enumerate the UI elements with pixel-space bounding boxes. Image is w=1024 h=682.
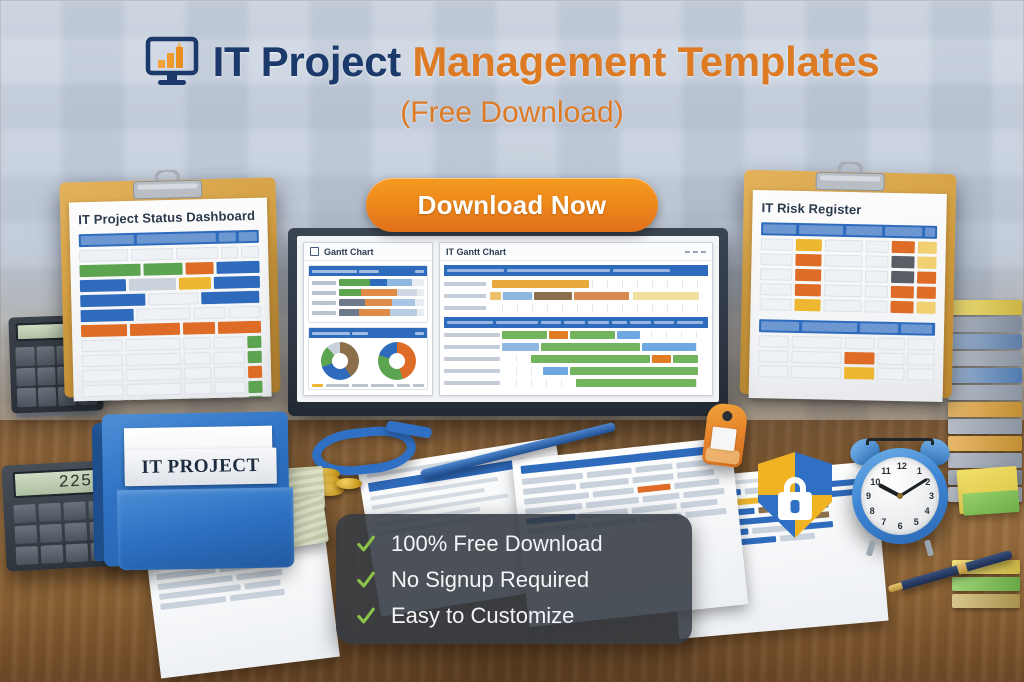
keyfob-base bbox=[705, 447, 740, 465]
gantt-row bbox=[444, 366, 708, 376]
table-header bbox=[761, 222, 937, 239]
page-title: IT Project Management Templates bbox=[213, 38, 880, 86]
clock-face: 12 3 6 9 11 1 2 4 5 7 8 10 bbox=[861, 457, 939, 535]
gantt-row bbox=[444, 378, 708, 388]
clipboard-clip-icon bbox=[807, 161, 894, 197]
headline-row: IT Project Management Templates bbox=[0, 36, 1024, 88]
clock-number-8: 8 bbox=[870, 506, 875, 516]
clock-number-11: 11 bbox=[881, 466, 891, 476]
desktop-monitor: Gantt Chart bbox=[288, 228, 728, 416]
check-icon bbox=[356, 570, 376, 590]
promo-banner: 29 IT Project Status Dashboard bbox=[0, 0, 1024, 682]
blue-alarm-clock: 12 3 6 9 11 1 2 4 5 7 8 10 bbox=[852, 448, 948, 544]
table-row bbox=[759, 335, 935, 351]
gantt-row bbox=[444, 354, 708, 364]
feature-label: 100% Free Download bbox=[391, 531, 603, 557]
timeline-row bbox=[444, 291, 708, 301]
check-icon bbox=[356, 606, 376, 626]
window-it-gantt-chart[interactable]: IT Gantt Chart bbox=[439, 242, 713, 396]
table-row bbox=[761, 238, 937, 254]
clipboard-risk-register: IT Risk Register bbox=[740, 170, 957, 398]
stacked-bar-row bbox=[312, 309, 424, 316]
feature-item: Easy to Customize bbox=[356, 603, 674, 629]
window-controls-icon[interactable] bbox=[685, 251, 706, 253]
table-row bbox=[760, 283, 936, 299]
clipboard-title: IT Risk Register bbox=[761, 200, 937, 219]
download-now-button[interactable]: Download Now bbox=[366, 178, 658, 232]
table-row bbox=[80, 291, 260, 307]
table-row bbox=[758, 350, 934, 366]
table-row bbox=[81, 336, 261, 352]
clock-number-7: 7 bbox=[881, 517, 886, 527]
card-header bbox=[309, 266, 427, 276]
timeline-row bbox=[444, 279, 708, 289]
window-title: Gantt Chart bbox=[324, 247, 374, 257]
clock-center-pin bbox=[897, 493, 903, 499]
lock-body bbox=[778, 492, 812, 520]
orange-key-fob bbox=[701, 402, 748, 468]
stacked-bar-row bbox=[312, 289, 424, 296]
keyring-hole bbox=[722, 411, 733, 422]
card-stacked-bars bbox=[308, 265, 428, 323]
card-body bbox=[309, 276, 427, 322]
sticky-notes bbox=[957, 466, 1020, 514]
monitor-bar-chart-icon bbox=[145, 36, 199, 88]
clipboard-paper: IT Project Status Dashboard bbox=[69, 198, 272, 402]
window-body bbox=[304, 261, 432, 395]
clock-number-1: 1 bbox=[917, 466, 922, 476]
window-gantt-chart[interactable]: Gantt Chart bbox=[303, 242, 433, 396]
clock-minute-hand bbox=[899, 478, 928, 498]
monitor-screen: Gantt Chart bbox=[297, 236, 719, 402]
clipboard-status-dashboard: IT Project Status Dashboard bbox=[59, 177, 280, 397]
clock-number-9: 9 bbox=[866, 491, 871, 501]
clipboard-paper: IT Risk Register bbox=[749, 190, 947, 402]
table-row bbox=[82, 381, 262, 397]
clock-number-3: 3 bbox=[929, 491, 934, 501]
donut-chart-status bbox=[321, 342, 359, 380]
table-row bbox=[81, 321, 261, 337]
monitor-bezel: Gantt Chart bbox=[288, 228, 728, 416]
clock-number-5: 5 bbox=[914, 517, 919, 527]
clipboard-clip-icon bbox=[124, 169, 211, 205]
table-row bbox=[82, 366, 262, 382]
table-row bbox=[758, 365, 934, 381]
folder-label-text: IT PROJECT bbox=[141, 455, 260, 479]
card-header bbox=[309, 328, 427, 338]
gantt-row bbox=[444, 330, 708, 340]
folder-front-panel bbox=[117, 487, 294, 570]
table-row bbox=[760, 268, 936, 284]
check-icon bbox=[356, 534, 376, 554]
stacked-bar-row bbox=[312, 279, 424, 286]
window-body bbox=[440, 261, 712, 395]
folder-label: IT PROJECT bbox=[124, 448, 277, 487]
gantt-table-header bbox=[444, 317, 708, 328]
features-panel: 100% Free Download No Signup Required Ea… bbox=[336, 514, 692, 644]
feature-label: No Signup Required bbox=[391, 567, 589, 593]
table-row bbox=[79, 261, 259, 277]
headline-block: IT Project Management Templates (Free Do… bbox=[0, 36, 1024, 130]
clipboard-title: IT Project Status Dashboard bbox=[78, 208, 258, 227]
donut-pair bbox=[309, 338, 427, 382]
card-donut-charts bbox=[308, 327, 428, 390]
clock-number-4: 4 bbox=[925, 506, 930, 516]
it-project-folder: IT PROJECT bbox=[102, 411, 291, 566]
window-square-icon bbox=[310, 247, 319, 256]
table-row bbox=[80, 276, 260, 292]
clock-handle bbox=[866, 438, 934, 445]
window-titlebar: IT Gantt Chart bbox=[440, 243, 712, 261]
window-title: IT Gantt Chart bbox=[446, 247, 506, 257]
feature-item: 100% Free Download bbox=[356, 531, 674, 557]
gantt-row bbox=[444, 342, 708, 352]
title-part-dark: IT Project bbox=[213, 38, 401, 85]
table-row bbox=[79, 246, 259, 262]
table-header bbox=[759, 319, 935, 336]
feature-item: No Signup Required bbox=[356, 567, 674, 593]
table-header bbox=[79, 230, 259, 247]
chart-legend bbox=[309, 382, 427, 389]
table-row bbox=[81, 306, 261, 322]
headline-subtitle: (Free Download) bbox=[0, 96, 1024, 130]
clock-number-6: 6 bbox=[898, 521, 903, 531]
gold-coin bbox=[336, 478, 362, 489]
donut-chart-priority bbox=[378, 342, 416, 380]
stacked-bar-row bbox=[312, 299, 424, 306]
table-row bbox=[82, 351, 262, 367]
table-row bbox=[759, 298, 935, 314]
clock-number-12: 12 bbox=[897, 461, 907, 471]
feature-label: Easy to Customize bbox=[391, 603, 574, 629]
window-titlebar: Gantt Chart bbox=[304, 243, 432, 261]
timeline-row bbox=[444, 303, 708, 313]
timeline-header bbox=[444, 265, 708, 276]
table-row bbox=[760, 253, 936, 269]
title-part-orange: Management Templates bbox=[412, 38, 879, 85]
